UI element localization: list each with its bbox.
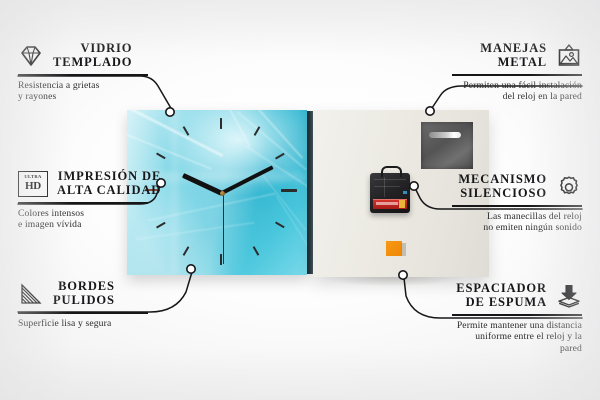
mechanism-detail <box>374 179 406 180</box>
battery-terminal <box>399 200 405 208</box>
feature-description: Las manecillas del relojno emiten ningún… <box>452 211 582 234</box>
feature-bordes-pulidos[interactable]: BORDESPULIDOS Superficie lisa y segura <box>18 280 148 329</box>
battery <box>373 199 407 209</box>
clock-tick <box>220 118 222 129</box>
feature-impresion-alta-calidad[interactable]: ultra HD IMPRESIÓN DEALTA CALIDAD Colore… <box>18 170 148 231</box>
feature-heading: BORDESPULIDOS <box>18 280 148 307</box>
feature-divider <box>452 314 582 316</box>
feature-title: BORDESPULIDOS <box>53 280 115 307</box>
mechanism-detail <box>384 177 385 197</box>
feather-streak <box>127 132 212 170</box>
clock-tick <box>220 254 222 265</box>
feather-streak <box>262 175 306 231</box>
ultra-hd-icon: ultra HD <box>18 171 48 197</box>
hanger-slot <box>429 132 461 138</box>
feature-title: MANEJASMETAL <box>480 42 547 69</box>
feature-heading: VIDRIOTEMPLADO <box>18 42 148 69</box>
clock-tick <box>275 222 284 228</box>
clock-tick <box>156 222 165 228</box>
arrow-down-stack-icon <box>556 284 582 308</box>
feature-description: Colores intensose imagen vívida <box>18 208 148 231</box>
feature-divider <box>18 74 148 76</box>
feature-title: MECANISMOSILENCIOSO <box>458 173 547 200</box>
feather-streak <box>135 222 254 240</box>
feature-heading: MANEJASMETAL <box>452 42 582 69</box>
feature-divider <box>452 74 582 76</box>
clock-hand-second <box>223 192 225 264</box>
feature-description: Permite mantener una distanciauniforme e… <box>452 320 582 355</box>
picture-frame-hanger-icon <box>556 44 582 68</box>
clock-tick <box>275 153 284 159</box>
feature-title: IMPRESIÓN DEALTA CALIDAD <box>57 170 161 197</box>
feature-vidrio-templado[interactable]: VIDRIOTEMPLADO Resistencia a grietasy ra… <box>18 42 148 103</box>
feature-description: Resistencia a grietasy rayones <box>18 80 148 103</box>
foam-spacer <box>386 241 402 256</box>
feature-title: ESPACIADORDE ESPUMA <box>456 282 547 309</box>
mechanism-contact <box>403 191 407 194</box>
clock-tick <box>281 189 297 192</box>
ultra-hd-icon-label: HD <box>25 181 41 192</box>
feature-description: Superficie lisa y segura <box>18 318 148 330</box>
foam-spacer-shadow <box>401 243 406 256</box>
mechanism-shaft <box>381 166 402 177</box>
polished-edge-icon <box>18 282 44 306</box>
diamond-icon <box>18 44 44 68</box>
feature-title: VIDRIOTEMPLADO <box>53 42 132 69</box>
clock-tick <box>156 153 165 159</box>
clock-mechanism <box>370 173 410 213</box>
battery-band <box>376 202 398 205</box>
feather-streak <box>148 193 276 222</box>
gear-icon <box>556 175 582 199</box>
feather-streak <box>275 195 307 250</box>
clock-tick <box>183 246 189 255</box>
feature-heading: MECANISMOSILENCIOSO <box>452 173 582 200</box>
clock-tick <box>253 246 259 255</box>
feature-description: Permiten una fácil instalacióndel reloj … <box>452 80 582 103</box>
product-image <box>127 110 487 275</box>
mechanism-detail <box>374 186 400 187</box>
feature-espaciador-espuma[interactable]: ESPACIADORDE ESPUMA Permite mantener una… <box>452 282 582 354</box>
metal-hanger-plate <box>421 122 473 169</box>
feature-heading: ultra HD IMPRESIÓN DEALTA CALIDAD <box>18 170 148 197</box>
infographic-canvas: VIDRIOTEMPLADO Resistencia a grietasy ra… <box>0 0 600 400</box>
clock-center-cap <box>220 191 225 196</box>
feature-heading: ESPACIADORDE ESPUMA <box>452 282 582 309</box>
feature-divider <box>18 312 148 314</box>
feature-mecanismo-silencioso[interactable]: MECANISMOSILENCIOSO Las manecillas del r… <box>452 173 582 234</box>
feature-divider <box>452 205 582 207</box>
feature-manejas-metal[interactable]: MANEJASMETAL Permiten una fácil instalac… <box>452 42 582 103</box>
feather-glow <box>171 110 178 275</box>
feature-divider <box>18 202 148 204</box>
